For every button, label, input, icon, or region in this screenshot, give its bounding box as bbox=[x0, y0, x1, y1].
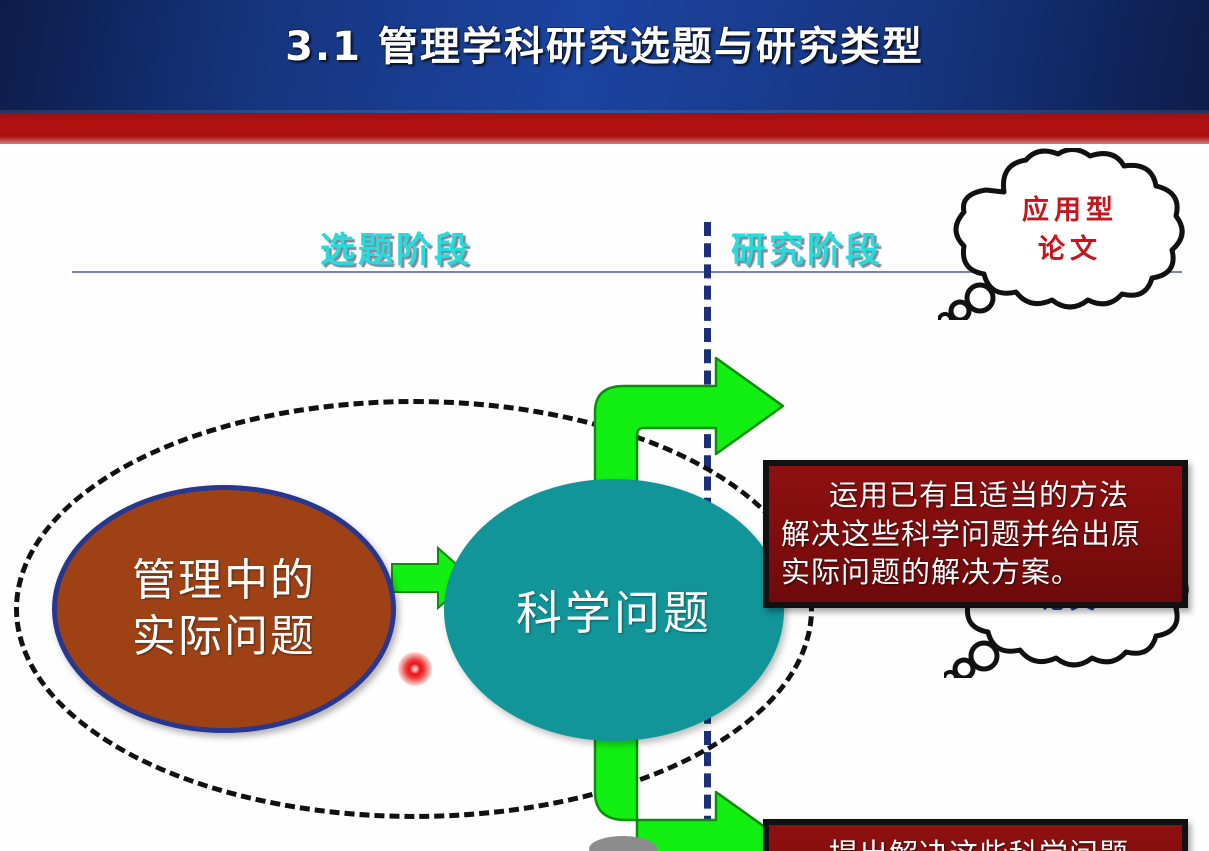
node-practical-problem-line1: 管理中的 bbox=[132, 553, 316, 609]
page-title: 3.1 管理学科研究选题与研究类型 bbox=[0, 14, 1209, 72]
node-scientific-problem-label: 科学问题 bbox=[516, 577, 712, 643]
bottom-decoration-shape bbox=[589, 836, 657, 851]
applied-paper-bubble[interactable]: 应用型 论文 bbox=[938, 148, 1190, 320]
phase-label-research: 研究阶段 bbox=[731, 222, 883, 273]
applied-desc-line2: 解决这些科学问题并给出原 bbox=[781, 515, 1170, 554]
node-practical-problem[interactable]: 管理中的 实际问题 bbox=[52, 485, 396, 733]
red-highlight-dot-icon bbox=[398, 652, 432, 686]
title-accent-stripe bbox=[0, 113, 1209, 144]
research-paper-description-box[interactable]: 提出解决这些科学问题 的新方法或对这些科学问题 的已有解决方法进行改进。 bbox=[763, 819, 1188, 851]
thought-bubble-shape-icon bbox=[938, 148, 1190, 320]
slide-canvas: 3.1 管理学科研究选题与研究类型 选题阶段 研究阶段 bbox=[0, 0, 1209, 851]
research-desc-line1: 提出解决这些科学问题 bbox=[781, 835, 1170, 851]
applied-desc-line1: 运用已有且适当的方法 bbox=[781, 476, 1170, 515]
phase-label-topic-selection: 选题阶段 bbox=[320, 222, 472, 273]
slide-title-bar: 3.1 管理学科研究选题与研究类型 bbox=[0, 0, 1209, 113]
node-practical-problem-line2: 实际问题 bbox=[132, 609, 316, 665]
applied-desc-line3: 实际问题的解决方案。 bbox=[781, 553, 1170, 592]
applied-paper-description-box[interactable]: 运用已有且适当的方法 解决这些科学问题并给出原 实际问题的解决方案。 bbox=[763, 460, 1188, 608]
slide-body: 选题阶段 研究阶段 管理中的 实际问题 科 bbox=[0, 144, 1209, 851]
node-scientific-problem[interactable]: 科学问题 bbox=[444, 479, 784, 741]
